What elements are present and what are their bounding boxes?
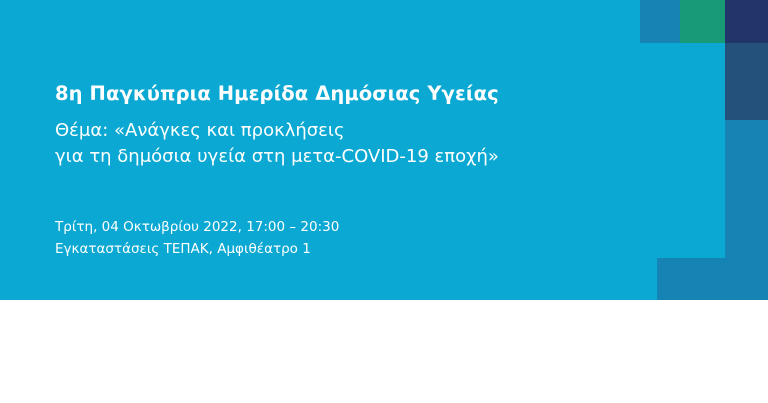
hero-section: 8η Παγκύπρια Ημερίδα Δημόσιας Υγείας Θέμ… (0, 0, 768, 300)
event-title: 8η Παγκύπρια Ημερίδα Δημόσιας Υγείας (55, 82, 635, 106)
event-details-group: Τρίτη, 04 Οκτωβρίου 2022, 17:00 – 20:30 … (55, 217, 339, 261)
footer-logo-bar: Τεχνολογικό Πανεπιστήμιο Κύπρου Διεθνές … (0, 300, 768, 403)
decor-block-navy (725, 0, 768, 43)
event-datetime: Τρίτη, 04 Οκτωβρίου 2022, 17:00 – 20:30 (55, 217, 339, 239)
decor-block-lower-right (657, 258, 725, 300)
event-venue: Εγκαταστάσεις ΤΕΠΑΚ, Αμφιθέατρο 1 (55, 239, 339, 261)
decor-block-mid-navy (725, 43, 768, 120)
event-subtitle-line1: Θέμα: «Ανάγκες και προκλήσεις (55, 118, 635, 144)
decor-block-right-column (725, 120, 768, 300)
hero-text-group: 8η Παγκύπρια Ημερίδα Δημόσιας Υγείας Θέμ… (55, 82, 635, 169)
event-subtitle-line2: για τη δημόσια υγεία στη μετα-COVID-19 ε… (55, 144, 635, 170)
decor-block-green (680, 0, 725, 43)
event-banner: 8η Παγκύπρια Ημερίδα Δημόσιας Υγείας Θέμ… (0, 0, 768, 403)
decor-block-teal (640, 0, 680, 43)
